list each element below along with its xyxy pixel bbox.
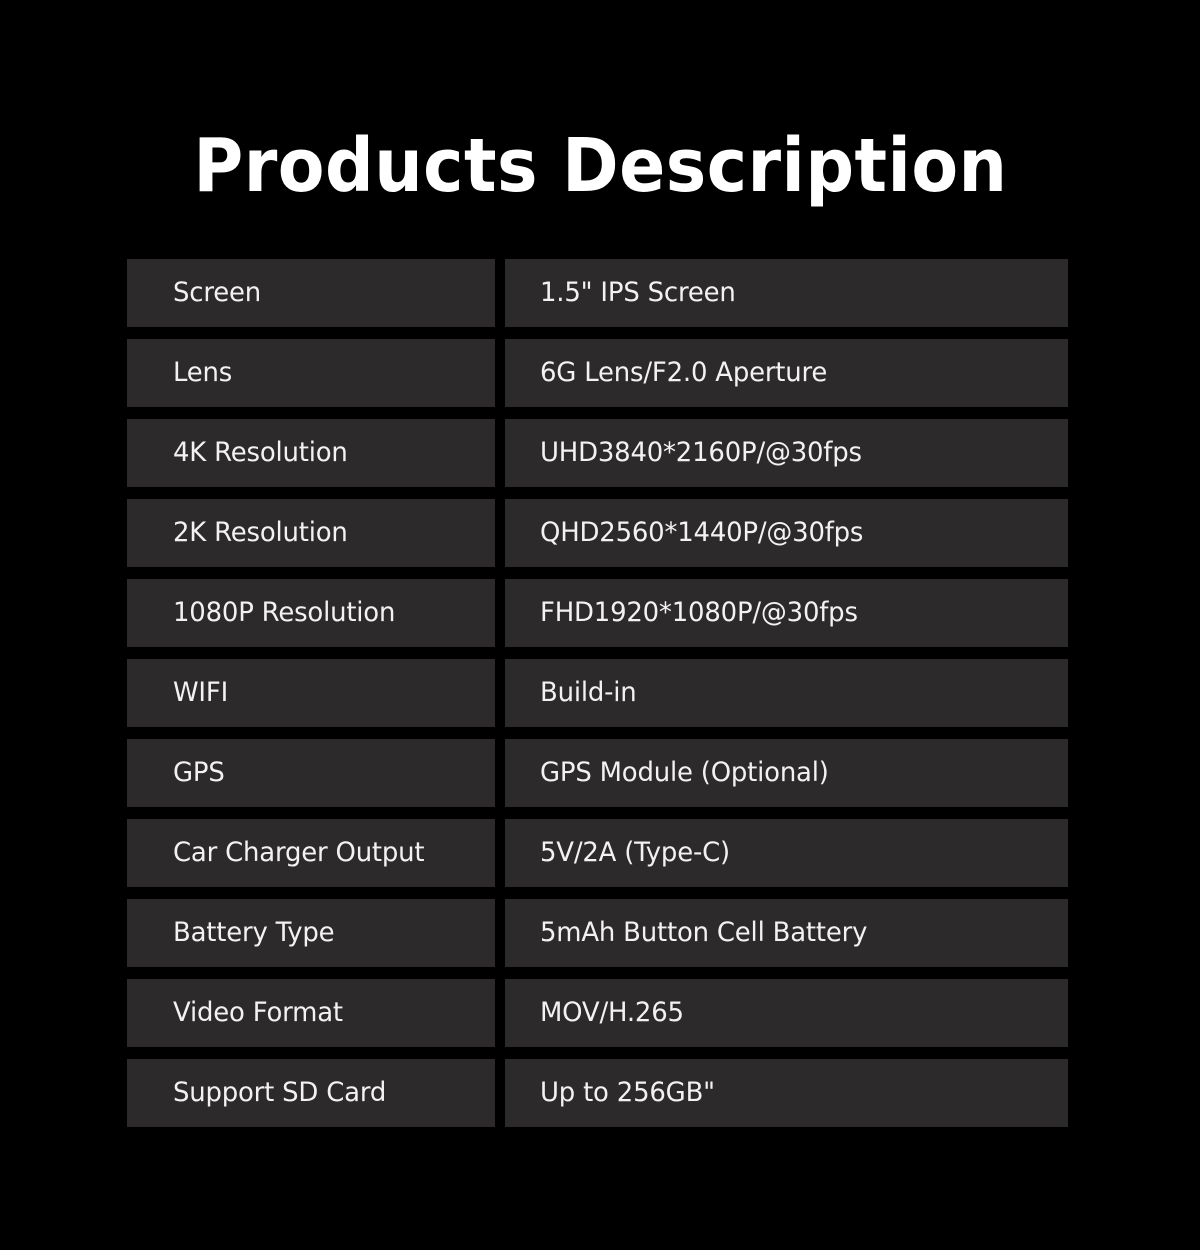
page-title: Products Description xyxy=(193,126,1007,206)
spec-value-text: 6G Lens/F2.0 Aperture xyxy=(540,357,827,389)
spec-label-cell: WIFI xyxy=(127,659,495,727)
spec-value-cell: Build-in xyxy=(505,659,1068,727)
spec-value-cell: 6G Lens/F2.0 Aperture xyxy=(505,339,1068,407)
spec-label-cell: Car Charger Output xyxy=(127,819,495,887)
product-description-page: Products Description Screen1.5" IPS Scre… xyxy=(0,0,1200,1250)
spec-label-text: 1080P Resolution xyxy=(173,597,395,629)
spec-label-text: WIFI xyxy=(173,677,228,709)
spec-label-cell: 2K Resolution xyxy=(127,499,495,567)
table-row: Support SD CardUp to 256GB" xyxy=(127,1059,1068,1127)
spec-value-cell: QHD2560*1440P/@30fps xyxy=(505,499,1068,567)
spec-label-text: Support SD Card xyxy=(173,1077,386,1109)
table-row: Lens6G Lens/F2.0 Aperture xyxy=(127,339,1068,407)
spec-value-cell: 5V/2A (Type-C) xyxy=(505,819,1068,887)
spec-label-cell: 1080P Resolution xyxy=(127,579,495,647)
table-row: 2K ResolutionQHD2560*1440P/@30fps xyxy=(127,499,1068,567)
spec-value-text: GPS Module (Optional) xyxy=(540,757,829,789)
spec-value-cell: 1.5" IPS Screen xyxy=(505,259,1068,327)
spec-label-cell: Video Format xyxy=(127,979,495,1047)
spec-value-text: Up to 256GB" xyxy=(540,1077,715,1109)
spec-value-text: 5V/2A (Type-C) xyxy=(540,837,730,869)
table-row: WIFIBuild-in xyxy=(127,659,1068,727)
spec-label-text: 2K Resolution xyxy=(173,517,348,549)
spec-value-cell: FHD1920*1080P/@30fps xyxy=(505,579,1068,647)
spec-label-text: Lens xyxy=(173,357,232,389)
spec-label-cell: Battery Type xyxy=(127,899,495,967)
spec-value-cell: MOV/H.265 xyxy=(505,979,1068,1047)
spec-value-text: 1.5" IPS Screen xyxy=(540,277,736,309)
spec-label-text: Video Format xyxy=(173,997,343,1029)
spec-label-text: Battery Type xyxy=(173,917,334,949)
spec-value-text: Build-in xyxy=(540,677,637,709)
spec-value-cell: GPS Module (Optional) xyxy=(505,739,1068,807)
table-row: Battery Type5mAh Button Cell Battery xyxy=(127,899,1068,967)
table-row: 4K ResolutionUHD3840*2160P/@30fps xyxy=(127,419,1068,487)
spec-label-cell: Lens xyxy=(127,339,495,407)
table-row: Screen1.5" IPS Screen xyxy=(127,259,1068,327)
spec-value-text: 5mAh Button Cell Battery xyxy=(540,917,867,949)
spec-label-text: Car Charger Output xyxy=(173,837,424,869)
table-row: Video FormatMOV/H.265 xyxy=(127,979,1068,1047)
page-title-container: Products Description xyxy=(0,76,1200,255)
spec-label-text: 4K Resolution xyxy=(173,437,348,469)
table-row: Car Charger Output5V/2A (Type-C) xyxy=(127,819,1068,887)
spec-value-text: QHD2560*1440P/@30fps xyxy=(540,517,863,549)
spec-value-cell: UHD3840*2160P/@30fps xyxy=(505,419,1068,487)
table-row: GPSGPS Module (Optional) xyxy=(127,739,1068,807)
spec-value-text: FHD1920*1080P/@30fps xyxy=(540,597,858,629)
spec-value-text: UHD3840*2160P/@30fps xyxy=(540,437,862,469)
spec-label-cell: Screen xyxy=(127,259,495,327)
spec-label-text: Screen xyxy=(173,277,261,309)
spec-value-cell: 5mAh Button Cell Battery xyxy=(505,899,1068,967)
spec-label-cell: Support SD Card xyxy=(127,1059,495,1127)
table-row: 1080P ResolutionFHD1920*1080P/@30fps xyxy=(127,579,1068,647)
spec-value-text: MOV/H.265 xyxy=(540,997,684,1029)
spec-value-cell: Up to 256GB" xyxy=(505,1059,1068,1127)
specifications-table: Screen1.5" IPS ScreenLens6G Lens/F2.0 Ap… xyxy=(127,259,1068,1127)
spec-label-cell: 4K Resolution xyxy=(127,419,495,487)
spec-label-cell: GPS xyxy=(127,739,495,807)
spec-label-text: GPS xyxy=(173,757,225,789)
